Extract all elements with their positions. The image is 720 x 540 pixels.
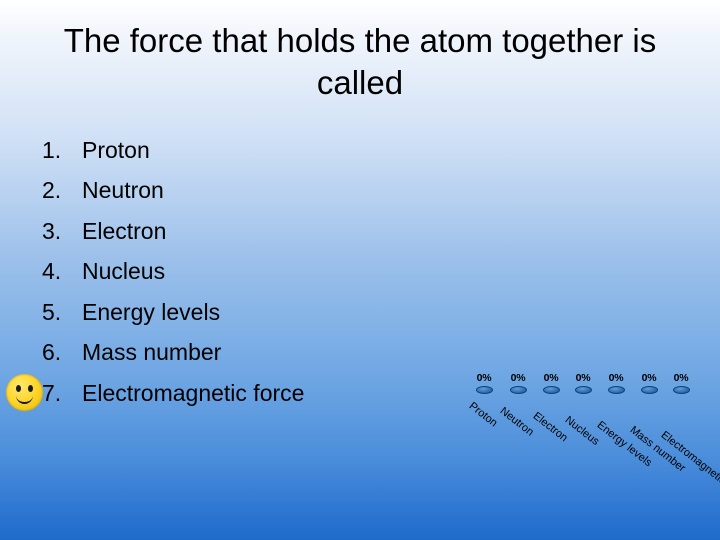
- list-item[interactable]: 5. Energy levels: [38, 292, 458, 332]
- list-item-label: Electromagnetic force: [82, 373, 458, 413]
- list-item[interactable]: 3. Electron: [38, 211, 458, 251]
- poll-bar-1: 0%: [503, 372, 533, 394]
- list-item-label: Electron: [82, 211, 458, 251]
- poll-marker-1: [510, 386, 527, 394]
- list-item[interactable]: 4. Nucleus: [38, 251, 458, 291]
- poll-marker-6: [673, 386, 690, 394]
- smiley-mouth-icon: [16, 393, 33, 404]
- list-item[interactable]: 6. Mass number: [38, 332, 458, 372]
- poll-bar-6: 0%: [666, 372, 696, 394]
- poll-value-6: 0%: [666, 372, 696, 384]
- poll-value-4: 0%: [601, 372, 631, 384]
- poll-bar-4: 0%: [601, 372, 631, 394]
- poll-category-6: Electromagnetic force: [659, 429, 720, 504]
- list-item-label: Mass number: [82, 332, 458, 372]
- list-item[interactable]: 2. Neutron: [38, 170, 458, 210]
- list-item[interactable]: 1. Proton: [38, 130, 458, 170]
- smiley-eye-right-icon: [28, 385, 33, 392]
- list-item-label: Nucleus: [82, 251, 458, 291]
- list-item-number: 3.: [38, 211, 82, 251]
- poll-category-3: Nucleus: [563, 414, 602, 448]
- poll-value-3: 0%: [568, 372, 598, 384]
- poll-value-0: 0%: [469, 372, 499, 384]
- poll-marker-0: [476, 386, 493, 394]
- poll-marker-4: [608, 386, 625, 394]
- poll-category-0: Proton: [467, 400, 500, 429]
- list-item-label: Energy levels: [82, 292, 458, 332]
- slide: The force that holds the atom together i…: [0, 0, 720, 540]
- poll-bar-2: 0%: [536, 372, 566, 394]
- poll-value-1: 0%: [503, 372, 533, 384]
- poll-marker-3: [575, 386, 592, 394]
- poll-category-2: Electron: [531, 410, 570, 444]
- poll-marker-5: [641, 386, 658, 394]
- list-item-number: 5.: [38, 292, 82, 332]
- list-item-label: Neutron: [82, 170, 458, 210]
- list-item-number: 2.: [38, 170, 82, 210]
- poll-marker-2: [543, 386, 560, 394]
- poll-bar-3: 0%: [568, 372, 598, 394]
- poll-bar-5: 0%: [634, 372, 664, 394]
- answer-list: 1. Proton 2. Neutron 3. Electron 4. Nucl…: [38, 130, 458, 413]
- page-title: The force that holds the atom together i…: [40, 20, 680, 104]
- poll-value-5: 0%: [634, 372, 664, 384]
- smiley-eye-left-icon: [16, 385, 21, 392]
- list-item-number: 4.: [38, 251, 82, 291]
- poll-category-1: Neutron: [498, 405, 536, 439]
- poll-bar-0: 0%: [469, 372, 499, 394]
- poll-results-chart: 0% 0% 0% 0% 0% 0% 0% Proton Neutron E: [455, 368, 705, 518]
- list-item-number: 7.: [38, 373, 82, 413]
- list-item[interactable]: 7. Electromagnetic force: [38, 373, 458, 413]
- list-item-number: 6.: [38, 332, 82, 372]
- smiley-face-icon: [6, 374, 43, 411]
- list-item-label: Proton: [82, 130, 458, 170]
- poll-value-2: 0%: [536, 372, 566, 384]
- list-item-number: 1.: [38, 130, 82, 170]
